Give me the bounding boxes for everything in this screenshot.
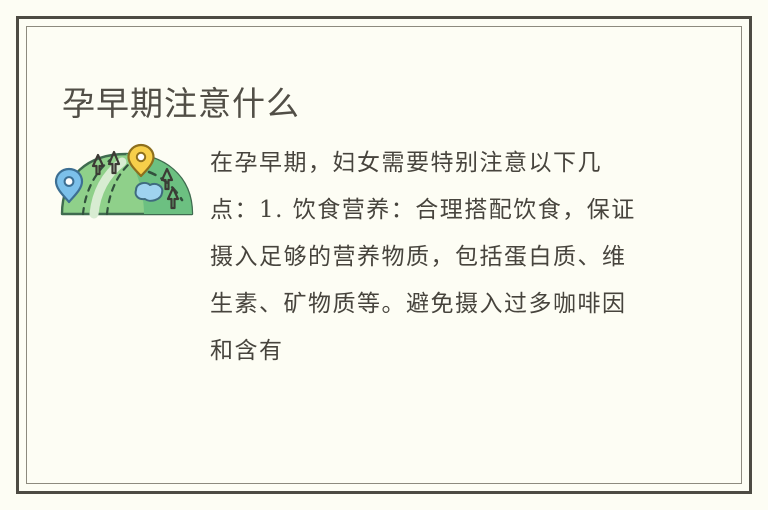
lake-shape: [136, 183, 163, 201]
card-content: 孕早期注意什么: [26, 26, 742, 484]
article-body-row: 在孕早期，妇女需要特别注意以下几点：1. 饮食营养：合理搭配饮食，保证摄入足够的…: [52, 138, 714, 375]
map-hill-illustration: [52, 142, 202, 222]
article-body-text: 在孕早期，妇女需要特别注意以下几点：1. 饮食营养：合理搭配饮食，保证摄入足够的…: [210, 138, 642, 375]
page-title: 孕早期注意什么: [62, 84, 300, 124]
article-card: 孕早期注意什么: [0, 0, 768, 510]
